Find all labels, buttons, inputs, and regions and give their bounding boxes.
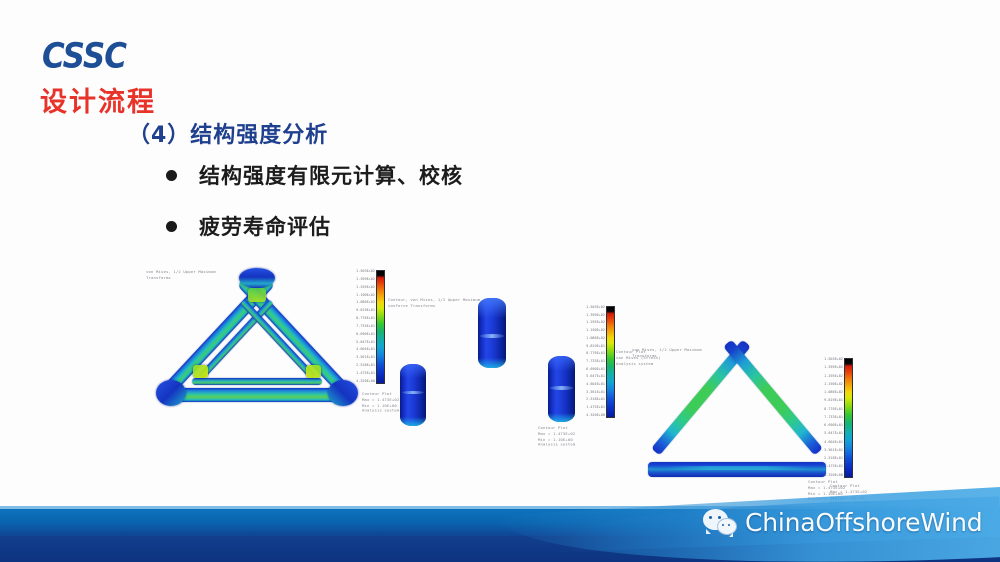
legend-tick: 1.475E+01: [824, 465, 843, 469]
bullet-label: 结构强度有限元计算、校核: [199, 160, 463, 190]
legend-tick: 1.190E+02: [356, 293, 375, 297]
legend-color-bar: [844, 358, 853, 478]
legend-tick: 4.320E+00: [824, 473, 843, 477]
watermark-label: ChinaOffshoreWind: [745, 508, 982, 537]
legend-tick: 4.320E+00: [586, 413, 605, 417]
legend-tick: 1.086E+02: [356, 301, 375, 305]
legend-tick: 1.399E+02: [824, 366, 843, 370]
bullet-dot-icon: [166, 221, 177, 232]
brace-bar: [648, 462, 826, 477]
frame-node: [328, 380, 358, 406]
legend-tick: 1.295E+02: [356, 285, 375, 289]
legend-tick: 7.733E+01: [586, 359, 605, 363]
legend-tick: 4.604E+01: [586, 382, 605, 386]
cylinder-cap-bottom: [400, 417, 426, 426]
legend-tick: 8.776E+01: [356, 316, 375, 320]
cylinder-cap-bottom: [548, 413, 575, 422]
legend-tick: 3.561E+01: [824, 448, 843, 452]
legend-tick: 1.399E+02: [586, 313, 605, 317]
wechat-eye-dot: [709, 516, 712, 519]
legend-tick: 1.190E+02: [586, 328, 605, 332]
legend-ticks: 1.503E+02 1.399E+02 1.295E+02 1.190E+02 …: [592, 306, 605, 416]
frame-node: [239, 268, 275, 288]
wechat-bubble-small: [717, 518, 737, 535]
legend-color-bar: [376, 270, 385, 384]
legend-tick: 6.690E+01: [356, 332, 375, 336]
cylinder-can: [478, 298, 506, 368]
cylinder-weld-band: [550, 386, 574, 389]
legend-tick: 9.819E+01: [586, 344, 605, 348]
brace-bar: [723, 340, 823, 456]
cylinder-cap-bottom: [478, 358, 506, 368]
figure-note: von Mises, 1/2 Upper Maximum Transforms: [632, 348, 702, 359]
figure-note: Contour, von Mises, 1/2 Upper Maximum vo…: [388, 298, 480, 309]
legend-tick: 8.776E+01: [824, 407, 843, 411]
legend-tick: 1.399E+02: [356, 277, 375, 281]
legend-tick: 8.776E+01: [586, 352, 605, 356]
legend-tick: 6.690E+01: [824, 423, 843, 427]
triangular-frame-mesh: [156, 268, 356, 408]
brace-bar-stress-band: [666, 466, 808, 471]
cylinder-can: [400, 364, 426, 426]
legend-tick: 1.503E+02: [824, 357, 843, 361]
list-item: 结构强度有限元计算、校核: [166, 160, 726, 190]
wechat-icon: [703, 509, 737, 536]
legend-tick: 1.086E+02: [824, 390, 843, 394]
legend-tick: 4.320E+00: [356, 379, 375, 383]
fea-figure-triangular-frame: von Mises, 1/2 Upper Maximum Transforms: [140, 258, 370, 418]
cssc-logo: CSSC: [42, 36, 126, 76]
legend-tick: 1.475E+01: [586, 405, 605, 409]
legend-tick: 6.690E+01: [586, 367, 605, 371]
legend-tick: 1.086E+02: [586, 336, 605, 340]
wechat-eye-dot: [722, 524, 724, 526]
cylinder-weld-band: [402, 391, 425, 394]
page-subtitle: （4）结构强度分析: [128, 117, 328, 149]
legend-tick: 1.475E+01: [356, 371, 375, 375]
frame-node: [156, 380, 186, 406]
wechat-watermark: ChinaOffshoreWind: [703, 508, 982, 537]
legend-tick: 2.518E+01: [824, 456, 843, 460]
cylinder-cap-top: [400, 364, 426, 378]
color-legend-2: 1.503E+02 1.399E+02 1.295E+02 1.190E+02 …: [592, 306, 622, 416]
legend-ticks: 1.503E+02 1.399E+02 1.295E+02 1.190E+02 …: [362, 270, 375, 382]
legend-tick: 1.295E+02: [824, 374, 843, 378]
fea-figure-cylinders: Contour, von Mises, 1/2 Upper Maximum vo…: [388, 276, 598, 466]
legend-tick: 3.561E+01: [356, 356, 375, 360]
legend-tick: 9.819E+01: [356, 309, 375, 313]
bullet-list: 结构强度有限元计算、校核 疲劳寿命评估: [166, 160, 726, 262]
legend-tick: 7.733E+01: [824, 415, 843, 419]
cylinder-can: [548, 356, 575, 422]
wechat-eye-dot: [728, 524, 730, 526]
legend-tick: 1.503E+02: [586, 305, 605, 309]
fea-figure-brace-bars: von Mises, 1/2 Upper Maximum Transforms …: [632, 330, 850, 502]
bullet-label: 疲劳寿命评估: [199, 211, 331, 241]
stress-hotspot: [248, 288, 266, 302]
legend-tick: 1.190E+02: [824, 382, 843, 386]
cylinder-weld-band: [480, 334, 505, 338]
legend-tick: 1.503E+02: [356, 269, 375, 273]
frame-leg: [168, 388, 346, 402]
legend-tick: 2.518E+01: [356, 363, 375, 367]
presentation-slide: CSSC 设计流程 （4）结构强度分析 结构强度有限元计算、校核 疲劳寿命评估 …: [0, 0, 1000, 562]
legend-tick: 4.604E+01: [356, 348, 375, 352]
color-legend-3: 1.503E+02 1.399E+02 1.295E+02 1.190E+02 …: [830, 358, 860, 476]
legend-tick: 5.647E+01: [356, 340, 375, 344]
legend-tick: 9.819E+01: [824, 399, 843, 403]
legend-tick: 4.604E+01: [824, 440, 843, 444]
legend-tick: 2.518E+01: [586, 398, 605, 402]
list-item: 疲劳寿命评估: [166, 211, 726, 241]
cylinder-cap-top: [478, 298, 506, 318]
legend-color-bar: [606, 306, 615, 418]
legend-ticks: 1.503E+02 1.399E+02 1.295E+02 1.190E+02 …: [830, 358, 843, 476]
fea-figure-group: von Mises, 1/2 Upper Maximum Transforms: [140, 258, 870, 506]
figure-summary-note: Contour Plot Max = 1.473E+02 Min = 1.10E…: [538, 426, 575, 449]
legend-tick: 7.733E+01: [356, 324, 375, 328]
stress-hotspot: [306, 365, 321, 378]
frame-inner-leg: [192, 378, 322, 385]
legend-tick: 5.647E+01: [586, 375, 605, 379]
legend-tick: 3.561E+01: [586, 390, 605, 394]
bullet-dot-icon: [166, 170, 177, 181]
cylinder-cap-top: [548, 356, 575, 371]
legend-tick: 5.647E+01: [824, 432, 843, 436]
legend-tick: 1.295E+02: [586, 321, 605, 325]
page-title: 设计流程: [40, 80, 156, 119]
stress-hotspot: [193, 365, 208, 378]
